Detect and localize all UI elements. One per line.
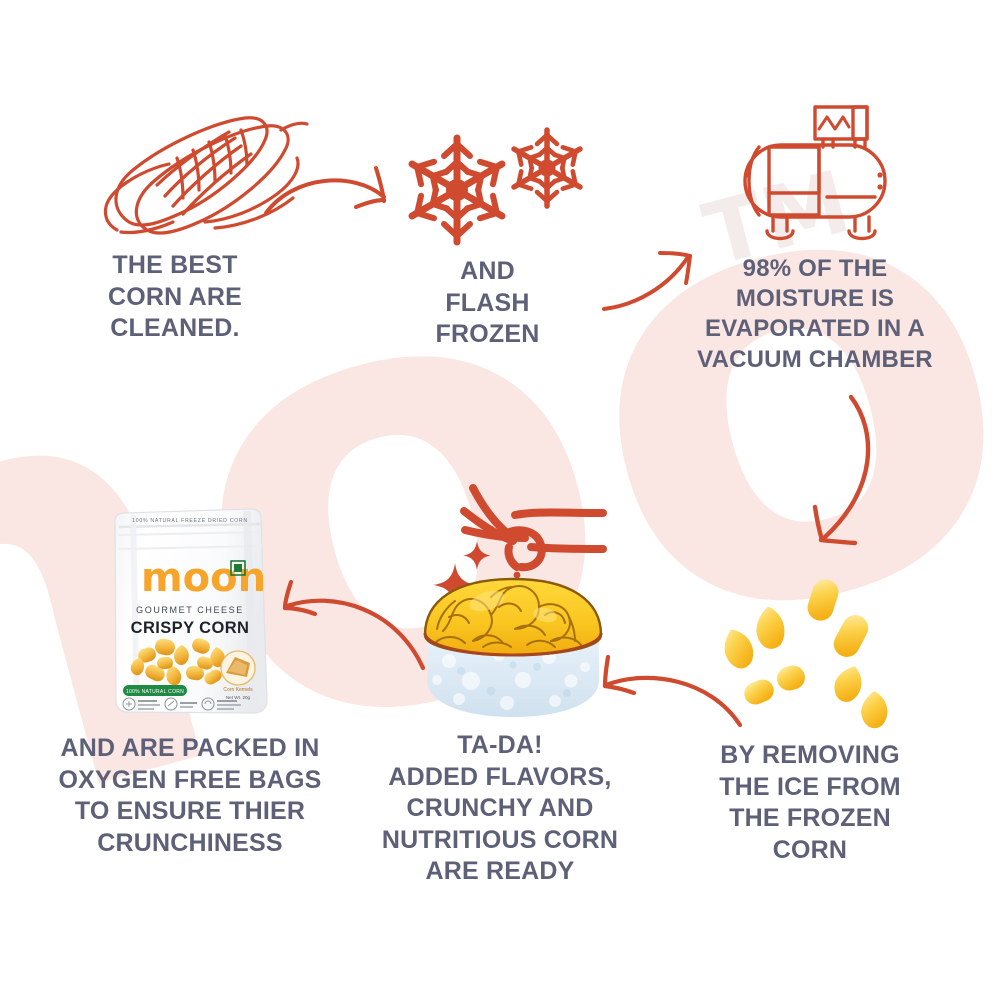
pouch-subtitle: GOURMET CHEESE <box>136 605 244 615</box>
pouch-green-badge: 100% NATURAL CORN <box>123 685 187 696</box>
pouch-flavor-roundel <box>221 651 255 685</box>
arrow-step3-to-step4 <box>785 385 925 560</box>
arrow-step1-to-step2 <box>250 155 415 250</box>
pouch-green-badge-label: 100% NATURAL CORN <box>126 689 184 695</box>
caption-step-4: BY REMOVING THE ICE FROM THE FROZEN CORN <box>660 740 960 866</box>
caption-step-5: TA-DA! ADDED FLAVORS, CRUNCHY AND NUTRIT… <box>345 730 655 888</box>
snowflakes-icon <box>395 118 605 248</box>
caption-step-2: AND FLASH FROZEN <box>380 256 595 351</box>
arrow-step5-to-step6 <box>265 580 430 680</box>
infographic-canvas: moon TM <box>0 0 1000 1000</box>
pouch-net-weight: Net Wt. 20g <box>226 695 251 700</box>
caption-step-6: AND ARE PACKED IN OXYGEN FREE BAGS TO EN… <box>25 733 355 859</box>
product-pouch-icon: 100% NATURAL FREEZE DRIED CORN moon TM G… <box>95 505 285 720</box>
pouch-product-name: CRISPY CORN <box>131 619 250 637</box>
seasoning-hand-over-corn-bowl-icon <box>395 475 640 725</box>
pouch-flavor-label: Corn Kernels <box>223 687 253 693</box>
scattered-corn-kernels-icon <box>725 570 915 730</box>
caption-step-1: THE BEST CORN ARE CLEANED. <box>40 250 310 345</box>
pouch-top-strip: 100% NATURAL FREEZE DRIED CORN <box>132 518 248 524</box>
caption-step-3: 98% OF THE MOISTURE IS EVAPORATED IN A V… <box>655 254 975 375</box>
vacuum-chamber-icon <box>715 95 925 245</box>
pouch-logo-tm-icon: TM <box>225 570 235 577</box>
pouch-logo: moon <box>141 555 266 601</box>
